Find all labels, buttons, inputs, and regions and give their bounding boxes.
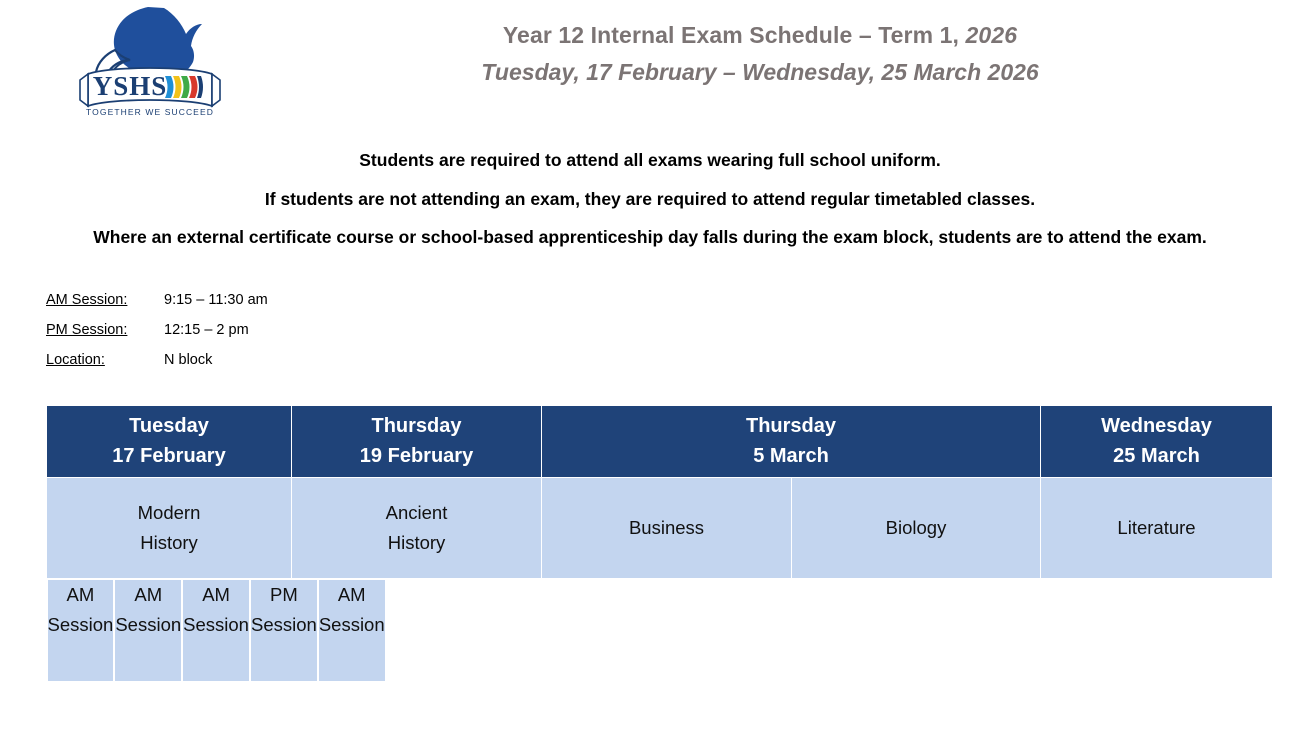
session-cell: PM Session (250, 579, 318, 682)
header-day: Tuesday (47, 411, 291, 441)
yshs-school-crest-logo: YSHS TOGETHER WE SUCCEED (70, 2, 230, 122)
header-day: Wednesday (1041, 411, 1272, 441)
page-title-year: 2026 (966, 22, 1018, 48)
session-line-2: Session (251, 610, 317, 640)
note-line-3: Where an external certificate course or … (43, 218, 1258, 257)
session-info-row: Location: N block (46, 345, 1300, 375)
svg-text:YSHS: YSHS (93, 71, 168, 101)
header-day: Thursday (542, 411, 1040, 441)
location-value: N block (164, 345, 1300, 375)
subject-line-1: Business (542, 513, 791, 543)
session-cell: AM Session (47, 579, 115, 682)
session-line-1: AM (115, 580, 181, 610)
page-title: Year 12 Internal Exam Schedule – Term 1,… (300, 18, 1220, 52)
header-date: 17 February (47, 441, 291, 471)
session-info-block: AM Session: 9:15 – 11:30 am PM Session: … (46, 285, 1300, 375)
notes-block: Students are required to attend all exam… (43, 141, 1258, 257)
am-session-value: 9:15 – 11:30 am (164, 285, 1300, 315)
title-block: Year 12 Internal Exam Schedule – Term 1,… (300, 18, 1220, 92)
table-row-subjects: Modern History Ancient History Business … (47, 477, 1273, 578)
page-subtitle: Tuesday, 17 February – Wednesday, 25 Mar… (300, 52, 1220, 92)
page-header: YSHS TOGETHER WE SUCCEED Year 12 Interna… (0, 0, 1300, 125)
header-cell-thursday-19-february: Thursday 19 February (292, 405, 542, 477)
location-label: Location: (46, 345, 164, 375)
session-line-2: Session (48, 610, 114, 640)
subject-line-2: History (292, 528, 541, 558)
session-line-2: Session (319, 610, 385, 640)
subject-cell: Literature (1041, 477, 1273, 578)
subject-cell: Ancient History (292, 477, 542, 578)
header-date: 5 March (542, 441, 1040, 471)
exam-schedule-table: Tuesday 17 February Thursday 19 February… (46, 405, 1273, 682)
session-line-1: PM (251, 580, 317, 610)
table-header-row: Tuesday 17 February Thursday 19 February… (47, 405, 1273, 477)
exam-schedule-table-wrap: Tuesday 17 February Thursday 19 February… (46, 405, 1272, 682)
header-cell-wednesday-25-march: Wednesday 25 March (1041, 405, 1273, 477)
subject-line-1: Biology (792, 513, 1040, 543)
note-line-2: If students are not attending an exam, t… (43, 180, 1258, 219)
subject-cell: Business (542, 477, 792, 578)
session-cell: AM Session (114, 579, 182, 682)
svg-text:TOGETHER WE SUCCEED: TOGETHER WE SUCCEED (86, 107, 214, 117)
session-info-row: AM Session: 9:15 – 11:30 am (46, 285, 1300, 315)
session-cell: AM Session (182, 579, 250, 682)
subject-cell: Biology (792, 477, 1041, 578)
session-line-1: AM (48, 580, 114, 610)
subject-line-1: Ancient (292, 498, 541, 528)
pm-session-value: 12:15 – 2 pm (164, 315, 1300, 345)
session-line-1: AM (319, 580, 385, 610)
header-cell-tuesday-17-february: Tuesday 17 February (47, 405, 292, 477)
subject-line-1: Literature (1041, 513, 1272, 543)
header-day: Thursday (292, 411, 541, 441)
subject-line-1: Modern (47, 498, 291, 528)
header-date: 25 March (1041, 441, 1272, 471)
subject-line-2: History (47, 528, 291, 558)
page-title-text: Year 12 Internal Exam Schedule – Term 1, (503, 22, 959, 48)
session-line-2: Session (183, 610, 249, 640)
pm-session-label: PM Session: (46, 315, 164, 345)
table-row-sessions: AM Session AM Session AM Session PM Sess… (47, 579, 292, 682)
session-line-2: Session (115, 610, 181, 640)
session-cell: AM Session (318, 579, 386, 682)
session-line-1: AM (183, 580, 249, 610)
am-session-label: AM Session: (46, 285, 164, 315)
subject-cell: Modern History (47, 477, 292, 578)
session-info-row: PM Session: 12:15 – 2 pm (46, 315, 1300, 345)
note-line-1: Students are required to attend all exam… (43, 141, 1258, 180)
header-cell-thursday-5-march: Thursday 5 March (542, 405, 1041, 477)
header-date: 19 February (292, 441, 541, 471)
